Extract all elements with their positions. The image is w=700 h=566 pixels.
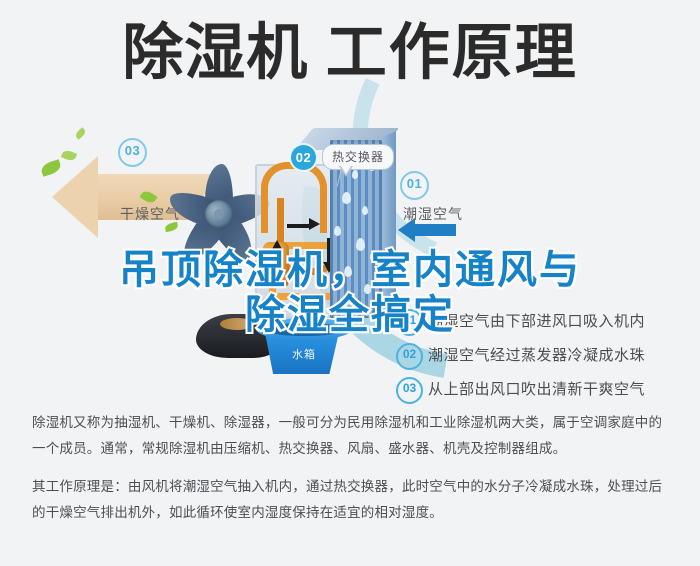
legend-badge: 02: [396, 343, 423, 370]
heat-exchanger-callout: 热交换器: [322, 144, 394, 170]
condensate-droplet: [342, 192, 351, 204]
step-badge-03-diagram: 03: [118, 138, 147, 167]
leaf-icon: [74, 127, 87, 139]
overlay-headline-line1: 吊顶除湿机，室内通风与: [119, 248, 581, 292]
moist-air-label: 潮湿空气: [403, 204, 463, 224]
inlet-arrow-shaft: [414, 224, 456, 236]
legend-text: 潮湿空气经过蒸发器冷凝成水珠: [428, 344, 645, 365]
flow-arrow-right-icon: [309, 218, 320, 230]
flow-line: [287, 224, 311, 228]
body-copy: 除湿机又称为抽湿机、干燥机、除湿器，一般可分为民用除湿机和工业除湿机两大类，属于…: [32, 410, 672, 538]
page-title-part1: 除湿机: [122, 22, 308, 83]
body-paragraph-2: 其工作原理是：由风机将潮湿空气抽入机内，通过热交换器，此时空气中的水分子冷凝成水…: [32, 474, 672, 526]
overlay-headline: 吊顶除湿机，室内通风与 除湿全搞定: [0, 248, 700, 338]
water-tank-label: 水箱: [292, 346, 316, 362]
body-paragraph-1: 除湿机又称为抽湿机、干燥机、除湿器，一般可分为民用除湿机和工业除湿机两大类，属于…: [32, 410, 672, 462]
fan-hub: [205, 200, 233, 228]
callout-pointer-icon: [339, 166, 353, 177]
step-badge-02-diagram: 02: [291, 145, 316, 170]
infographic-page: 除湿机 工作原理 干燥空气: [0, 0, 700, 566]
legend-text: 从上部出风口吹出清新干爽空气: [428, 378, 645, 399]
step-badge-01-diagram: 01: [400, 171, 429, 200]
condensate-droplet: [334, 226, 341, 236]
legend-badge: 03: [396, 377, 423, 404]
legend-item: 03 从上部出风口吹出清新干爽空气: [396, 374, 688, 408]
condensate-droplet: [362, 206, 368, 215]
overlay-headline-line2: 除湿全搞定: [0, 293, 700, 338]
legend-item: 02 潮湿空气经过蒸发器冷凝成水珠: [396, 340, 688, 374]
